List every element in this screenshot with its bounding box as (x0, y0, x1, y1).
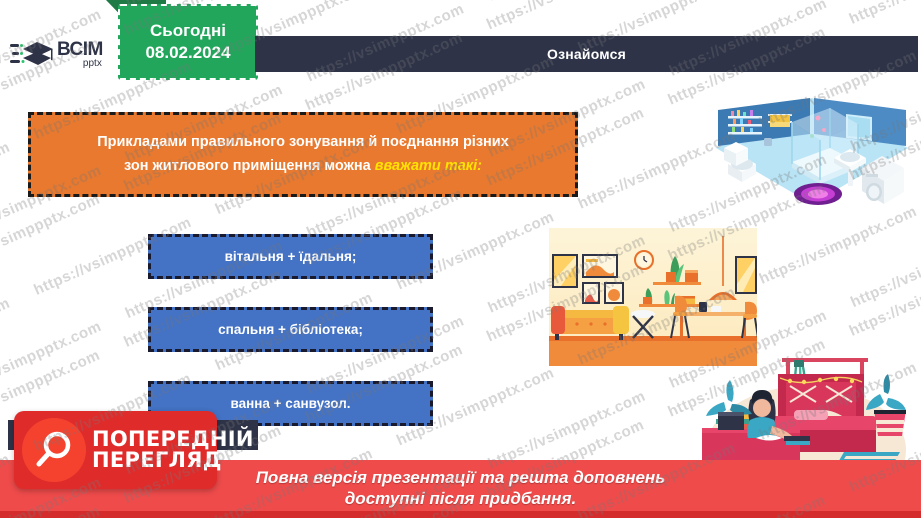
preview-badge-line-2: ПЕРЕГЛЯД (92, 450, 254, 471)
presentation-slide: ВСІМ pptx Сьогодні 08.02.2024 Ознайомся … (0, 0, 921, 518)
banner-line-2-text: зон житлового приміщення можна (124, 158, 375, 174)
banner-line-2: зон житлового приміщення можна вважати т… (124, 158, 482, 175)
banner-bottom-strip (0, 511, 921, 518)
bathroom-isometric-illustration (706, 86, 918, 214)
date-flag-container: Сьогодні 08.02.2024 (106, 0, 260, 82)
slide-header-bar: Ознайомся (255, 36, 918, 72)
date-flag-value: 08.02.2024 (145, 43, 230, 63)
zone-combination-item-1: вітальня + їдальня; (148, 234, 433, 279)
graduation-cap-icon (10, 38, 54, 72)
zone-item-label: вітальня + їдальня; (225, 249, 357, 264)
purchase-notice-line-1: Повна версія презентації та решта доповн… (256, 468, 666, 489)
banner-line-1: Прикладами правильного зонування й поєдн… (97, 134, 509, 151)
today-date-flag: Сьогодні 08.02.2024 (118, 4, 258, 80)
living-room-flat-illustration (549, 228, 757, 366)
banner-highlight-text: вважати такі: (375, 158, 482, 174)
magnifier-icon (22, 418, 86, 482)
intro-statement-banner: Прикладами правильного зонування й поєдн… (28, 112, 578, 197)
zone-item-label: ванна + санвузол. (230, 396, 350, 411)
logo-subtitle: pptx (83, 59, 102, 69)
preview-badge-line-1: ПОПЕРЕДНІЙ (92, 429, 254, 450)
zone-item-label: спальня + бібліотека; (218, 322, 363, 337)
preview-badge[interactable]: ПОПЕРЕДНІЙ ПЕРЕГЛЯД (14, 411, 217, 489)
logo-name: ВСІМ (57, 41, 103, 59)
page-title: Ознайомся (547, 46, 626, 62)
purchase-notice-line-2: доступні після придбання. (345, 489, 576, 510)
date-flag-label: Сьогодні (150, 21, 226, 41)
bedroom-reading-illustration (694, 358, 918, 470)
zone-combination-item-2: спальня + бібліотека; (148, 307, 433, 352)
